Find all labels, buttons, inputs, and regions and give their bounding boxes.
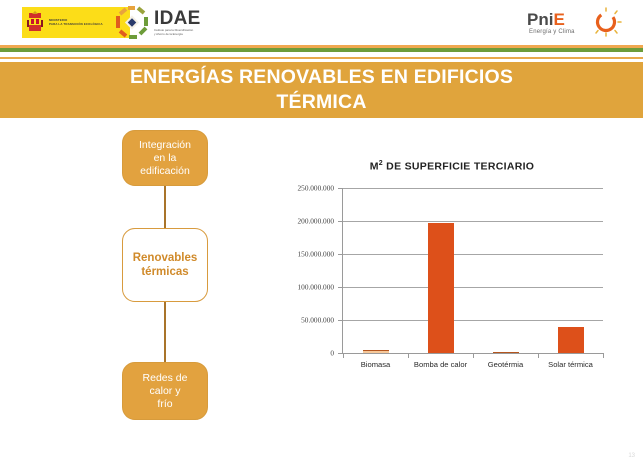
x-axis-tick: [538, 353, 539, 358]
x-axis-tick-label: Bomba de calor: [408, 360, 473, 369]
idae-title: IDAE: [154, 9, 201, 28]
x-axis-tick: [408, 353, 409, 358]
ministry-logo: MINISTERIO PARA LA TRANSICIÓN ECOLÓGICA: [22, 7, 130, 38]
idae-wordmark: IDAE Instituto para la Diversificación y…: [154, 9, 201, 37]
y-axis-tick-label: 200.000.000: [298, 217, 334, 226]
flow-box-renovables-termicas[interactable]: Renovables térmicas: [122, 228, 208, 302]
chart-x-axis-ticks: [343, 353, 603, 358]
slide-title-banner: ENERGÍAS RENOVABLES EN EDIFICIOS TÉRMICA: [0, 62, 643, 118]
flow-connector-bottom: [164, 302, 166, 362]
idae-subtitle: Instituto para la Diversificación y Ahor…: [154, 29, 201, 37]
x-axis-tick: [603, 353, 604, 358]
idae-hexagon-logo-icon: [115, 6, 149, 39]
bar-chart: M2 DE SUPERFICIE TERCIARIO 050.000.00010…: [268, 160, 636, 395]
x-axis-tick-label: Solar térmica: [538, 360, 603, 369]
pniec-e: E: [553, 10, 564, 29]
page-number: 13: [628, 453, 635, 459]
x-axis-tick: [343, 353, 344, 358]
bar-bomba-de-calor[interactable]: [428, 223, 454, 353]
spain-coat-of-arms-icon: [26, 11, 44, 35]
x-axis-tick-label: Geotérmia: [473, 360, 538, 369]
page-header: MINISTERIO PARA LA TRANSICIÓN ECOLÓGICA: [0, 0, 643, 44]
bar-solar-térmica[interactable]: [558, 327, 584, 353]
pniec-wordmark: PniE: [527, 10, 565, 30]
header-rule-green: [0, 48, 643, 52]
y-axis-tick-label: 0: [330, 349, 334, 358]
y-axis-tick-label: 50.000.000: [301, 316, 334, 325]
chart-x-axis-labels: BiomasaBomba de calorGeotérmiaSolar térm…: [343, 360, 603, 369]
header-rule-orange-bottom: [0, 57, 643, 59]
chart-bars: [343, 188, 603, 353]
chart-title-prefix: M: [370, 161, 379, 173]
chart-title-rest: DE SUPERFICIE TERCIARIO: [383, 161, 534, 173]
pniec-logo: PniE Energía y Clima: [527, 5, 631, 41]
y-axis-tick-label: 250.000.000: [298, 184, 334, 193]
page-title: ENERGÍAS RENOVABLES EN EDIFICIOS TÉRMICA: [130, 65, 513, 115]
flowchart: Integración en la edificación Renovables…: [122, 130, 208, 435]
pniec-subtitle: Energía y Clima: [529, 29, 575, 35]
chart-title: M2 DE SUPERFICIE TERCIARIO: [268, 160, 636, 173]
x-axis-tick-label: Biomasa: [343, 360, 408, 369]
flow-box-integracion-edificacion[interactable]: Integración en la edificación: [122, 130, 208, 186]
bar-cell: [408, 188, 473, 353]
y-axis-tick-label: 150.000.000: [298, 250, 334, 259]
y-axis-tick-label: 100.000.000: [298, 283, 334, 292]
x-axis-tick: [473, 353, 474, 358]
bar-cell: [473, 188, 538, 353]
chart-plot-area: 050.000.000100.000.000150.000.000200.000…: [342, 188, 603, 354]
ministry-line2: PARA LA TRANSICIÓN ECOLÓGICA: [49, 22, 103, 26]
flow-connector-top: [164, 186, 166, 228]
idae-logo: IDAE Instituto para la Diversificación y…: [115, 6, 201, 39]
sun-icon: [589, 7, 629, 39]
bar-cell: [538, 188, 603, 353]
flow-box-redes-calor-frio[interactable]: Redes de calor y frío: [122, 362, 208, 420]
ministry-name: MINISTERIO PARA LA TRANSICIÓN ECOLÓGICA: [49, 19, 103, 27]
bar-cell: [343, 188, 408, 353]
pniec-pni: Pni: [527, 10, 553, 29]
